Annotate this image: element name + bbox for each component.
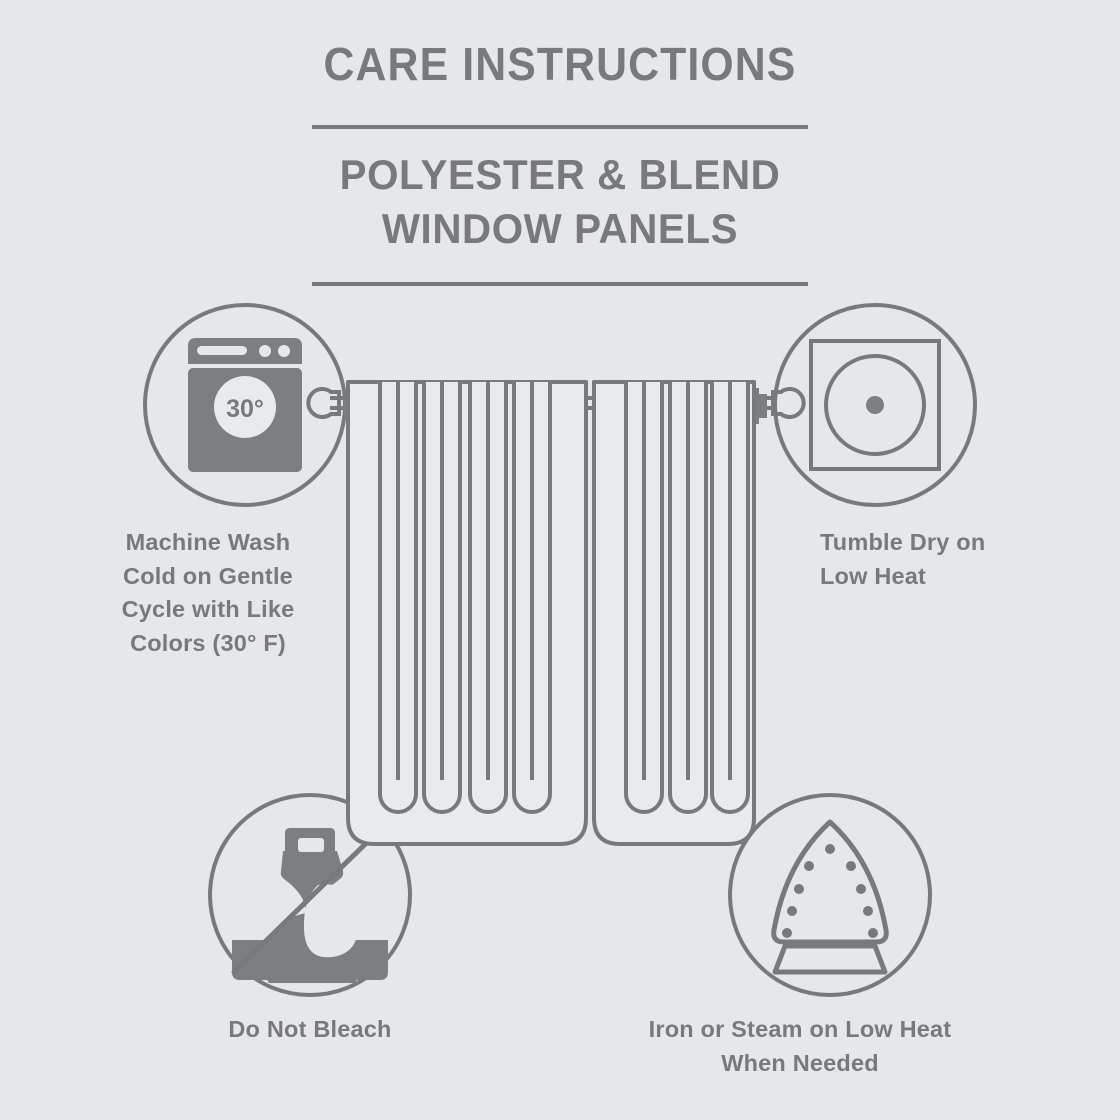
wash-temp-badge: 30° xyxy=(226,395,264,423)
page-title: CARE INSTRUCTIONS xyxy=(39,36,1081,92)
caption-line: Cold on Gentle xyxy=(58,560,358,594)
caption-line: Tumble Dry on xyxy=(820,526,1100,560)
subtitle-line-2: WINDOW PANELS xyxy=(22,202,1097,256)
caption-tumble-dry: Tumble Dry on Low Heat xyxy=(820,526,1100,593)
caption-line: Machine Wash xyxy=(58,526,358,560)
curtain-panel-left xyxy=(348,382,586,844)
caption-line: Colors (30° F) xyxy=(58,627,358,661)
caption-iron: Iron or Steam on Low Heat When Needed xyxy=(600,1013,1000,1080)
care-instructions-card: 30° xyxy=(0,0,1120,1120)
subtitle-line-1: POLYESTER & BLEND xyxy=(22,148,1097,202)
caption-line: Cycle with Like xyxy=(58,593,358,627)
washing-machine-icon: 30° xyxy=(188,338,302,472)
caption-line: When Needed xyxy=(600,1047,1000,1081)
page-subtitle: POLYESTER & BLEND WINDOW PANELS xyxy=(22,148,1097,256)
curtain-panel-right xyxy=(594,382,754,844)
caption-line: Low Heat xyxy=(820,560,1100,594)
iron-icon xyxy=(774,822,887,972)
tumble-dry-icon xyxy=(811,341,939,469)
caption-do-not-bleach: Do Not Bleach xyxy=(160,1013,460,1047)
caption-line: Do Not Bleach xyxy=(160,1013,460,1047)
caption-machine-wash: Machine Wash Cold on Gentle Cycle with L… xyxy=(58,526,358,660)
caption-line: Iron or Steam on Low Heat xyxy=(600,1013,1000,1047)
iron-steam-holes xyxy=(782,844,878,938)
